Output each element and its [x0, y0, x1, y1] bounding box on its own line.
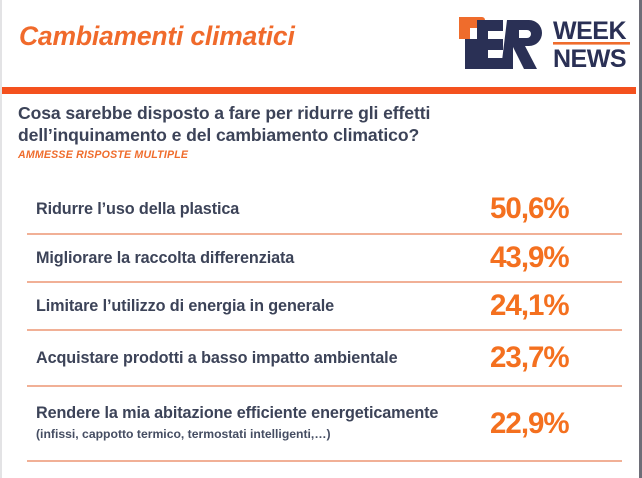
- results-table: Ridurre l’uso della plastica 50,6% Migli…: [27, 185, 622, 462]
- row-label-text: Ridurre l’uso della plastica: [36, 200, 239, 218]
- question-line-2: dell’inquinamento e del cambiamento clim…: [18, 124, 538, 146]
- row-label-text: Limitare l’utilizzo di energia in genera…: [36, 297, 334, 315]
- header-divider: [2, 87, 636, 94]
- row-label: Acquistare prodotti a basso impatto ambi…: [27, 348, 476, 368]
- row-label: Limitare l’utilizzo di energia in genera…: [27, 296, 476, 316]
- row-label: Ridurre l’uso della plastica: [27, 199, 476, 219]
- table-row: Migliorare la raccolta differenziata 43,…: [27, 233, 622, 281]
- question-line-1: Cosa sarebbe disposto a fare per ridurre…: [18, 102, 538, 124]
- table-row: Rendere la mia abitazione efficiente ene…: [27, 385, 622, 460]
- row-value: 24,1%: [476, 289, 622, 323]
- er-week-news-logo: WEEK NEWS: [457, 13, 632, 73]
- svg-text:NEWS: NEWS: [553, 45, 626, 73]
- page-title: Cambiamenti climatici: [19, 21, 295, 52]
- row-label-text: Rendere la mia abitazione efficiente ene…: [36, 404, 438, 422]
- question-block: Cosa sarebbe disposto a fare per ridurre…: [18, 102, 538, 161]
- row-label-text: Migliorare la raccolta differenziata: [36, 249, 294, 267]
- row-value: 22,9%: [476, 407, 622, 441]
- svg-text:WEEK: WEEK: [553, 17, 626, 45]
- row-label: Rendere la mia abitazione efficiente ene…: [27, 403, 476, 444]
- row-value: 43,9%: [476, 241, 622, 275]
- table-row: Ridurre l’uso della plastica 50,6%: [27, 185, 622, 233]
- slide-header: Cambiamenti climatici WEEK NEWS: [2, 0, 639, 88]
- row-value: 23,7%: [476, 341, 622, 375]
- row-value: 50,6%: [476, 192, 622, 226]
- question-note: AMMESSE RISPOSTE MULTIPLE: [18, 149, 538, 161]
- table-row: Limitare l’utilizzo di energia in genera…: [27, 281, 622, 329]
- table-row: Acquistare prodotti a basso impatto ambi…: [27, 329, 622, 385]
- row-label-text: Acquistare prodotti a basso impatto ambi…: [36, 349, 398, 367]
- row-label: Migliorare la raccolta differenziata: [27, 248, 476, 268]
- infographic-slide: Cambiamenti climatici WEEK NEWS: [0, 0, 642, 478]
- row-label-detail: (infissi, cappotto termico, termostati i…: [36, 427, 331, 441]
